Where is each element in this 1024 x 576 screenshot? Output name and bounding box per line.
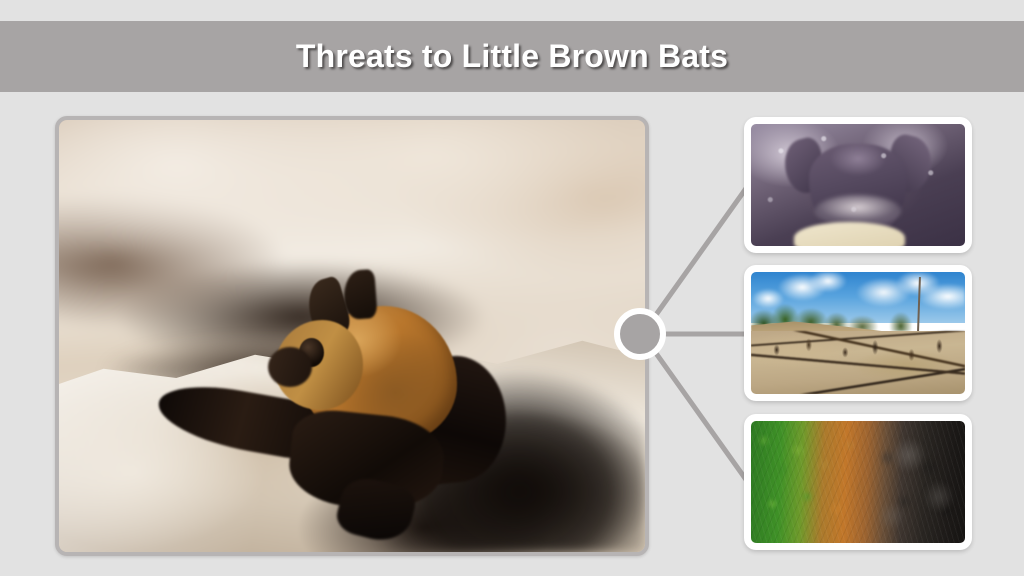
tree-stumps [751, 331, 965, 394]
wns-fungal-specks [751, 124, 965, 246]
thumbnail-deforestation[interactable] [744, 265, 972, 401]
thumbnail-white-nose-syndrome[interactable] [744, 117, 972, 253]
connector-to-thumb-3 [648, 342, 752, 488]
diagram-hub-node[interactable] [614, 308, 666, 360]
bat-figure [270, 293, 516, 518]
hero-image-frame[interactable] [55, 116, 649, 556]
page-title: Threats to Little Brown Bats [296, 38, 728, 75]
thumbnail-2-image [751, 272, 965, 394]
thumbnail-wildfire[interactable] [744, 414, 972, 550]
deforestation-scene [751, 272, 965, 394]
thumbnail-1-image [751, 124, 965, 246]
bat-snout [268, 347, 312, 387]
hero-image-little-brown-bat [59, 120, 645, 552]
thumbnail-3-image [751, 421, 965, 543]
connector-to-thumb-1 [648, 180, 752, 326]
title-banner: Threats to Little Brown Bats [0, 21, 1024, 92]
ash-overlay [871, 421, 965, 543]
